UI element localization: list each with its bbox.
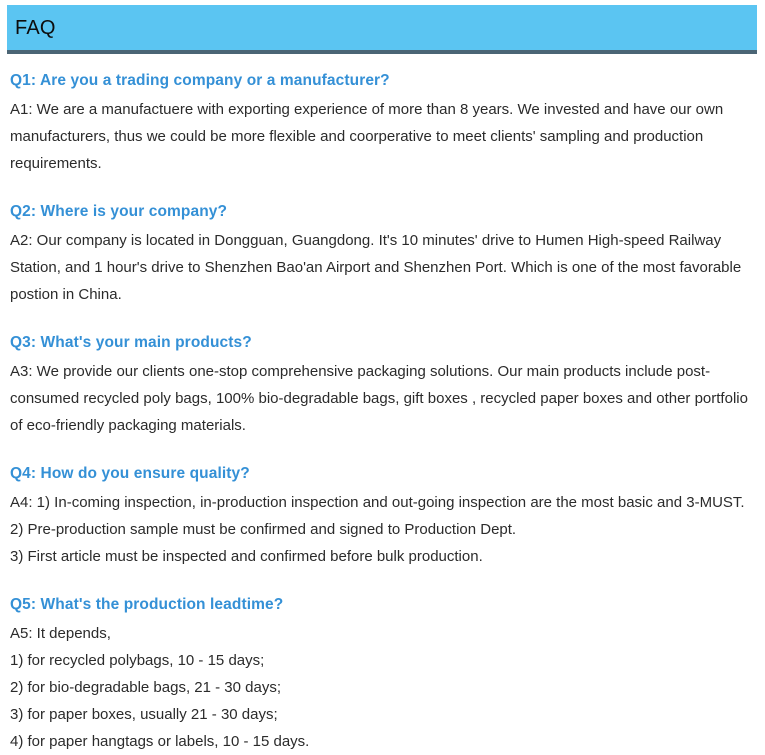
- faq-answer-line: 3) First article must be inspected and c…: [10, 543, 755, 570]
- faq-answer-line: A5: It depends,: [10, 620, 755, 647]
- faq-question-5: Q5: What's the production leadtime?: [10, 592, 755, 618]
- faq-banner: FAQ: [7, 5, 757, 54]
- faq-question-4: Q4: How do you ensure quality?: [10, 461, 755, 487]
- faq-answer-line: A4: 1) In-coming inspection, in-producti…: [10, 489, 755, 516]
- faq-item-3: Q3: What's your main products? A3: We pr…: [10, 330, 755, 439]
- faq-item-1: Q1: Are you a trading company or a manuf…: [10, 68, 755, 177]
- faq-item-2: Q2: Where is your company? A2: Our compa…: [10, 199, 755, 308]
- faq-answer-line: 2) for bio-degradable bags, 21 - 30 days…: [10, 674, 755, 701]
- faq-answer-3: A3: We provide our clients one-stop comp…: [10, 358, 755, 439]
- faq-answer-line: 1) for recycled polybags, 10 - 15 days;: [10, 647, 755, 674]
- faq-answer-line: 4) for paper hangtags or labels, 10 - 15…: [10, 728, 755, 755]
- faq-answer-5: A5: It depends, 1) for recycled polybags…: [10, 620, 755, 755]
- page-title: FAQ: [15, 18, 56, 38]
- faq-question-1: Q1: Are you a trading company or a manuf…: [10, 68, 755, 94]
- faq-item-5: Q5: What's the production leadtime? A5: …: [10, 592, 755, 755]
- faq-answer-1: A1: We are a manufactuere with exporting…: [10, 96, 755, 177]
- faq-answer-line: A2: Our company is located in Dongguan, …: [10, 227, 755, 308]
- faq-answer-line: 2) Pre-production sample must be confirm…: [10, 516, 755, 543]
- faq-answer-4: A4: 1) In-coming inspection, in-producti…: [10, 489, 755, 570]
- faq-answer-line: 3) for paper boxes, usually 21 - 30 days…: [10, 701, 755, 728]
- faq-question-2: Q2: Where is your company?: [10, 199, 755, 225]
- faq-answer-line: A1: We are a manufactuere with exporting…: [10, 96, 755, 177]
- faq-answer-2: A2: Our company is located in Dongguan, …: [10, 227, 755, 308]
- faq-question-3: Q3: What's your main products?: [10, 330, 755, 356]
- faq-page: FAQ Q1: Are you a trading company or a m…: [0, 0, 765, 748]
- faq-answer-line: A3: We provide our clients one-stop comp…: [10, 358, 755, 439]
- faq-item-4: Q4: How do you ensure quality? A4: 1) In…: [10, 461, 755, 570]
- faq-list: Q1: Are you a trading company or a manuf…: [10, 68, 755, 755]
